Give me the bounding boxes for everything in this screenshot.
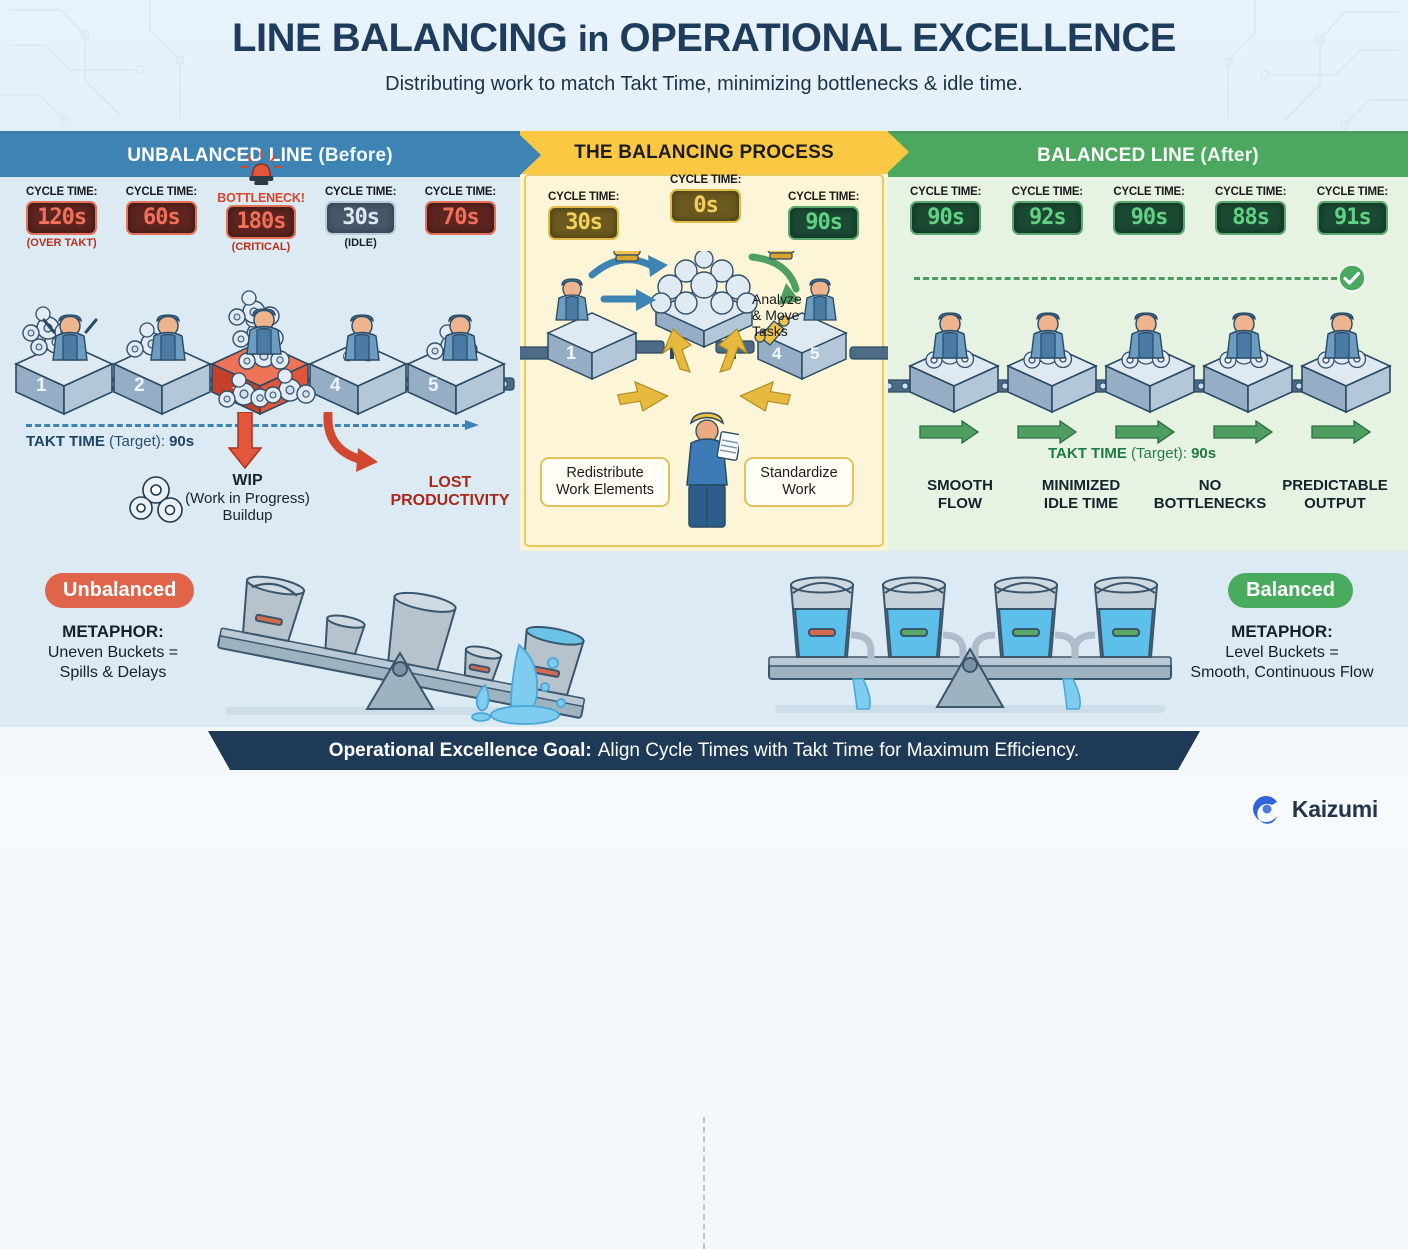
station-number-5: 5 [428, 375, 439, 396]
takt-paren: (Target): [109, 433, 165, 450]
callout-left-line-1: Redistribute [566, 465, 643, 481]
kaizumi-swirl-icon [1251, 793, 1283, 825]
panel-balancing-header: THE BALANCING PROCESS [520, 131, 888, 174]
smooth-flow-arrows [910, 420, 1394, 444]
wip-buildup-label: WIP (Work in Progress) Buildup [185, 472, 310, 524]
takt-value: 90s [1191, 445, 1216, 462]
metaphor-right-title: METAPHOR: [1231, 622, 1333, 641]
benefit-line-2: FLOW [938, 495, 982, 512]
cycle-time-value: 30s [548, 206, 619, 240]
cycle-time-station-1: CYCLE TIME: 120s (OVER TAKT) [26, 186, 97, 253]
cycle-time-value: 0s [670, 189, 741, 223]
station-number-1: 1 [566, 343, 576, 363]
metaphor-section: Unbalanced METAPHOR: Uneven Buckets = Sp… [0, 551, 1408, 727]
station-number-2: 2 [134, 375, 145, 396]
cycle-time-value: 60s [126, 201, 197, 235]
cycle-time-value: 70s [425, 201, 496, 235]
cycle-time-label: CYCLE TIME: [788, 191, 859, 203]
unbalanced-workstations-illustration: 1 2 3 4 5 [8, 286, 520, 421]
cycle-time-station-2: CYCLE TIME: 60s [126, 186, 197, 253]
metaphor-right-line-1: Level Buckets = [1225, 644, 1338, 661]
cycle-time-label: CYCLE TIME: [1317, 186, 1388, 198]
unbalanced-cycle-time-row: CYCLE TIME: 120s (OVER TAKT) CYCLE TIME:… [26, 186, 496, 253]
takt-line-arrow-icon [465, 417, 483, 433]
brand-name: Kaizumi [1292, 796, 1378, 823]
cycle-time-value: 88s [1215, 201, 1286, 235]
metaphor-left-line-1: Uneven Buckets = [48, 644, 178, 661]
goal-text: Align Cycle Times with Takt Time for Max… [598, 740, 1079, 762]
bottleneck-alert: BOTTLENECK! [217, 150, 304, 205]
benefit-line-2: BOTTLENECKS [1154, 495, 1267, 512]
cycle-time-note: (CRITICAL) [226, 241, 297, 253]
title-part-2: OPERATIONAL EXCELLENCE [620, 16, 1176, 60]
cycle-time-value: 90s [910, 201, 981, 235]
callout-right-line-1: Standardize [760, 465, 837, 481]
balanced-dashed-line [914, 277, 1346, 280]
benefit-line-1: MINIMIZED [1042, 477, 1120, 494]
cycle-time-note: (IDLE) [325, 237, 396, 249]
page-footer: Kaizumi [0, 775, 1408, 851]
panel-unbalanced-subtitle: (Before) [318, 145, 392, 167]
balanced-seesaw-illustration [755, 567, 1185, 717]
takt-bold: TAKT TIME [26, 433, 105, 450]
callout-right-line-2: Work [782, 482, 816, 498]
station-number-4: 4 [772, 344, 782, 363]
panel-balanced-header: BALANCED LINE (After) [888, 134, 1408, 177]
panels-band: UNBALANCED LINE (Before) CYCLE TIME: 120… [0, 131, 1408, 551]
cycle-time-label: CYCLE TIME: [126, 186, 197, 198]
station-number-5: 5 [810, 344, 819, 363]
wip-down-arrow-icon [225, 412, 265, 470]
balanced-pill-badge: Balanced [1228, 573, 1353, 608]
balanced-cycle-time-5: CYCLE TIME: 91s [1317, 186, 1388, 235]
cycle-time-label: CYCLE TIME: [910, 186, 981, 198]
page-subtitle: Distributing work to match Takt Time, mi… [0, 73, 1408, 96]
cycle-time-label: CYCLE TIME: [26, 186, 97, 198]
takt-bold: TAKT TIME [1048, 445, 1127, 462]
cycle-time-label: CYCLE TIME: [425, 186, 496, 198]
cycle-time-label: CYCLE TIME: [548, 191, 619, 203]
balanced-cycle-time-4: CYCLE TIME: 88s [1215, 186, 1286, 235]
benefit-line-1: SMOOTH [927, 477, 993, 494]
page-title: LINE BALANCING in OPERATIONAL EXCELLENCE [0, 0, 1408, 61]
metaphor-left-title: METAPHOR: [62, 622, 164, 641]
siren-icon [238, 150, 284, 186]
benefit-predictable-output: PREDICTABLE OUTPUT [1270, 477, 1400, 513]
cycle-time-label: CYCLE TIME: [1215, 186, 1286, 198]
goal-banner: Operational Excellence Goal: Align Cycle… [230, 731, 1178, 770]
takt-time-label-balanced: TAKT TIME (Target): 90s [1048, 445, 1216, 462]
bottleneck-label: BOTTLENECK! [217, 191, 304, 205]
cycle-time-value: 91s [1317, 201, 1388, 235]
goal-label: Operational Excellence Goal: [329, 740, 592, 762]
supervisor-illustration [675, 409, 739, 531]
cycle-time-value: 90s [1113, 201, 1184, 235]
metaphor-divider [703, 1117, 705, 1249]
cycle-time-label: CYCLE TIME: [1012, 186, 1083, 198]
callout-left-line-2: Work Elements [556, 482, 654, 498]
unbalanced-pill-badge: Unbalanced [45, 573, 194, 608]
balanced-workstations-illustration [888, 286, 1400, 421]
panel-balanced-subtitle: (After) [1200, 145, 1258, 167]
cycle-time-station-3: BOTTLENECK! 180s (CRITICAL) [226, 186, 297, 253]
analyze-line-1: Analyze [752, 291, 802, 307]
wip-sub-2: Buildup [222, 507, 272, 524]
benefit-line-1: NO [1199, 477, 1222, 494]
cycle-time-label: CYCLE TIME: [670, 174, 741, 186]
panel-unbalanced-line: UNBALANCED LINE (Before) CYCLE TIME: 120… [0, 131, 520, 551]
cycle-time-label: CYCLE TIME: [325, 186, 396, 198]
analyze-move-tasks-label: Analyze & Move Tasks [752, 291, 802, 339]
process-display-90s: CYCLE TIME: 90s [788, 191, 859, 240]
balanced-cycle-time-3: CYCLE TIME: 90s [1113, 186, 1184, 235]
panel-balanced-title: BALANCED LINE [1037, 145, 1195, 167]
lost-line-2: PRODUCTIVITY [390, 492, 509, 509]
page-header: LINE BALANCING in OPERATIONAL EXCELLENCE… [0, 0, 1408, 131]
analyze-line-3: Tasks [752, 323, 788, 339]
panel-balancing-process: THE BALANCING PROCESS CYCLE TIME: 30s CY… [520, 131, 888, 551]
lost-line-1: LOST [429, 474, 472, 491]
balancing-process-illustration: 1 4 5 [520, 251, 888, 431]
check-circle-icon [1338, 264, 1366, 292]
benefit-smooth-flow: SMOOTH FLOW [900, 477, 1020, 513]
station-number-1: 1 [36, 375, 47, 396]
cycle-time-note: (OVER TAKT) [26, 237, 97, 249]
takt-value: 90s [169, 433, 194, 450]
cycle-time-value: 30s [325, 201, 396, 235]
metaphor-left-line-2: Spills & Delays [60, 664, 167, 681]
benefit-line-1: PREDICTABLE [1282, 477, 1388, 494]
process-display-0s: CYCLE TIME: 0s [670, 174, 741, 223]
callout-redistribute: Redistribute Work Elements [540, 457, 670, 507]
lost-productivity-label: LOST PRODUCTIVITY [390, 474, 510, 511]
title-part-1: LINE BALANCING [232, 16, 567, 60]
balanced-cycle-time-row: CYCLE TIME: 90s CYCLE TIME: 92s CYCLE TI… [910, 186, 1388, 235]
balanced-metaphor-text: METAPHOR: Level Buckets = Smooth, Contin… [1162, 621, 1402, 683]
benefit-line-2: IDLE TIME [1044, 495, 1118, 512]
takt-time-label-unbalanced: TAKT TIME (Target): 90s [26, 433, 194, 450]
benefit-line-2: OUTPUT [1304, 495, 1366, 512]
title-connector: in [578, 18, 609, 59]
callout-standardize: Standardize Work [744, 457, 854, 507]
analyze-line-2: & Move [752, 307, 799, 323]
cycle-time-station-5: CYCLE TIME: 70s [425, 186, 496, 253]
wip-title: WIP [232, 472, 262, 489]
wip-sub-1: (Work in Progress) [185, 490, 310, 507]
process-display-30s: CYCLE TIME: 30s [548, 191, 619, 240]
takt-paren: (Target): [1131, 445, 1187, 462]
cycle-time-value: 90s [788, 206, 859, 240]
metaphor-right-line-2: Smooth, Continuous Flow [1190, 664, 1373, 681]
unbalanced-seesaw-illustration [185, 559, 605, 727]
station-number-4: 4 [330, 375, 341, 396]
benefit-minimized-idle-time: MINIMIZED IDLE TIME [1016, 477, 1146, 513]
panel-balanced-line: BALANCED LINE (After) CYCLE TIME: 90s CY… [888, 131, 1408, 551]
cycle-time-value: 180s [226, 205, 297, 239]
cycle-time-label: CYCLE TIME: [1113, 186, 1184, 198]
cycle-time-station-4: CYCLE TIME: 30s (IDLE) [325, 186, 396, 253]
benefit-no-bottlenecks: NO BOTTLENECKS [1140, 477, 1280, 513]
brand-logo[interactable]: Kaizumi [1251, 793, 1378, 825]
unbalanced-metaphor-text: METAPHOR: Uneven Buckets = Spills & Dela… [18, 621, 208, 683]
balanced-cycle-time-2: CYCLE TIME: 92s [1012, 186, 1083, 235]
cycle-time-value: 92s [1012, 201, 1083, 235]
cycle-time-value: 120s [26, 201, 97, 235]
balanced-cycle-time-1: CYCLE TIME: 90s [910, 186, 981, 235]
panel-balancing-title: THE BALANCING PROCESS [574, 142, 834, 164]
